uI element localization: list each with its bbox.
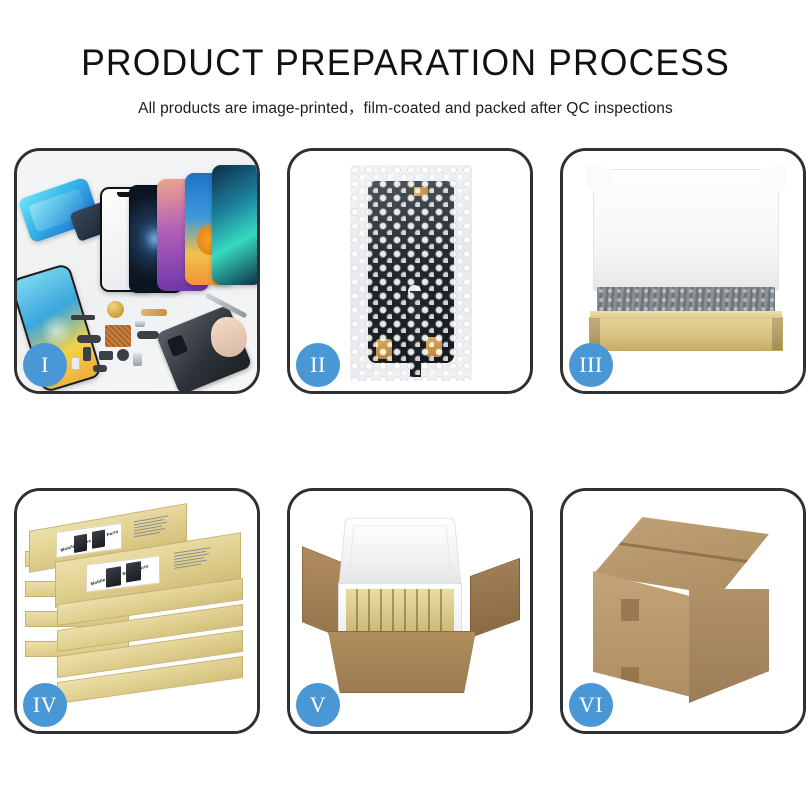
foam-lid	[338, 518, 461, 589]
gold-box-base	[589, 317, 783, 351]
step-panel-3[interactable]: III	[560, 148, 806, 394]
carton-left-face	[593, 571, 691, 697]
carton-flap-right	[470, 558, 520, 638]
phone-green-display	[212, 165, 260, 285]
carton-front-panel	[328, 631, 476, 693]
gold-boxes-inside	[346, 589, 454, 633]
step-badge-2: II	[296, 343, 340, 387]
step-panel-2[interactable]: II	[287, 148, 533, 394]
product-preparation-infographic: PRODUCT PREPARATION PROCESS All products…	[0, 0, 811, 811]
step-badge-6: VI	[569, 683, 613, 727]
page-subtitle: All products are image-printed，film-coat…	[0, 96, 811, 118]
step-panel-6[interactable]: VI	[560, 488, 806, 734]
page-title: PRODUCT PREPARATION PROCESS	[16, 44, 795, 83]
shipping-carton	[579, 517, 791, 707]
step-badge-5: V	[296, 683, 340, 727]
box-label-text-1: Mobile Phone Spare Parts	[60, 528, 119, 552]
step-badge-4: IV	[23, 683, 67, 727]
step-panel-4[interactable]: Mobile Phone Spare Parts Mobile Phone Sp…	[14, 488, 260, 734]
step-badge-1: I	[23, 343, 67, 387]
step-panel-1[interactable]: I	[14, 148, 260, 394]
carton-right-face	[689, 589, 769, 703]
box-white-lid	[593, 169, 779, 291]
box-stack: Mobile Phone Spare Parts Mobile Phone Sp…	[23, 507, 251, 707]
tweezer-and-hand	[201, 299, 253, 359]
bubble-wrap-bag	[350, 165, 472, 381]
spare-parts-cluster	[69, 301, 189, 385]
header: PRODUCT PREPARATION PROCESS All products…	[0, 0, 811, 118]
step-badge-3: III	[569, 343, 613, 387]
steps-grid: I II	[14, 148, 797, 758]
step-panel-5[interactable]: V	[287, 488, 533, 734]
